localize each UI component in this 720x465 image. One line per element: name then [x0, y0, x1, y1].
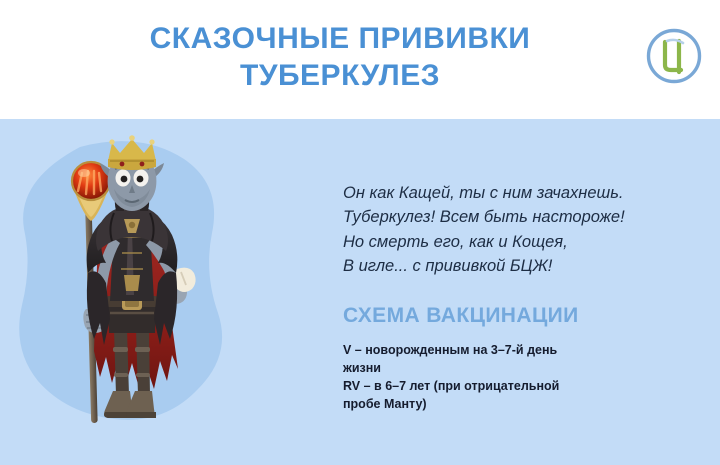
koschei-character-illustration [28, 133, 228, 433]
vaccination-scheme-body: V – новорожденным на 3–7-й день жизни RV… [343, 341, 633, 414]
poster-root: СКАЗОЧНЫЕ ПРИВИВКИ ТУБЕРКУЛЕЗ [0, 0, 720, 465]
cgon-logo [645, 27, 703, 85]
poem-block: Он как Кащей, ты с ним зачахнешь. Туберк… [343, 181, 693, 278]
poem-line-3: Но смерть его, как и Кощея, [343, 230, 693, 254]
boots-group [104, 391, 156, 418]
scheme-line-2: жизни [343, 359, 633, 377]
page-title-line-1: СКАЗОЧНЫЕ ПРИВИВКИ [60, 22, 620, 56]
poem-line-4: В игле... с прививкой БЦЖ! [343, 254, 693, 278]
scheme-line-1: V – новорожденным на 3–7-й день [343, 341, 633, 359]
header-title-block: СКАЗОЧНЫЕ ПРИВИВКИ ТУБЕРКУЛЕЗ [60, 22, 620, 92]
crown-group [108, 135, 156, 170]
poem-line-1: Он как Кащей, ты с ним зачахнешь. [343, 181, 693, 205]
poster-body-panel: Он как Кащей, ты с ним зачахнешь. Туберк… [0, 119, 720, 465]
poem-line-2: Туберкулез! Всем быть настороже! [343, 205, 693, 229]
scheme-line-3: RV – в 6–7 лет (при отрицательной [343, 377, 633, 395]
vaccination-scheme-heading: СХЕМА ВАКЦИНАЦИИ [343, 304, 579, 328]
page-title-line-2: ТУБЕРКУЛЕЗ [60, 59, 620, 93]
koschei-the-deathless-icon [28, 133, 228, 433]
cgon-circle-logo-icon [645, 27, 703, 85]
scheme-line-4: пробе Манту) [343, 395, 633, 413]
poster-header: СКАЗОЧНЫЕ ПРИВИВКИ ТУБЕРКУЛЕЗ [0, 0, 720, 119]
